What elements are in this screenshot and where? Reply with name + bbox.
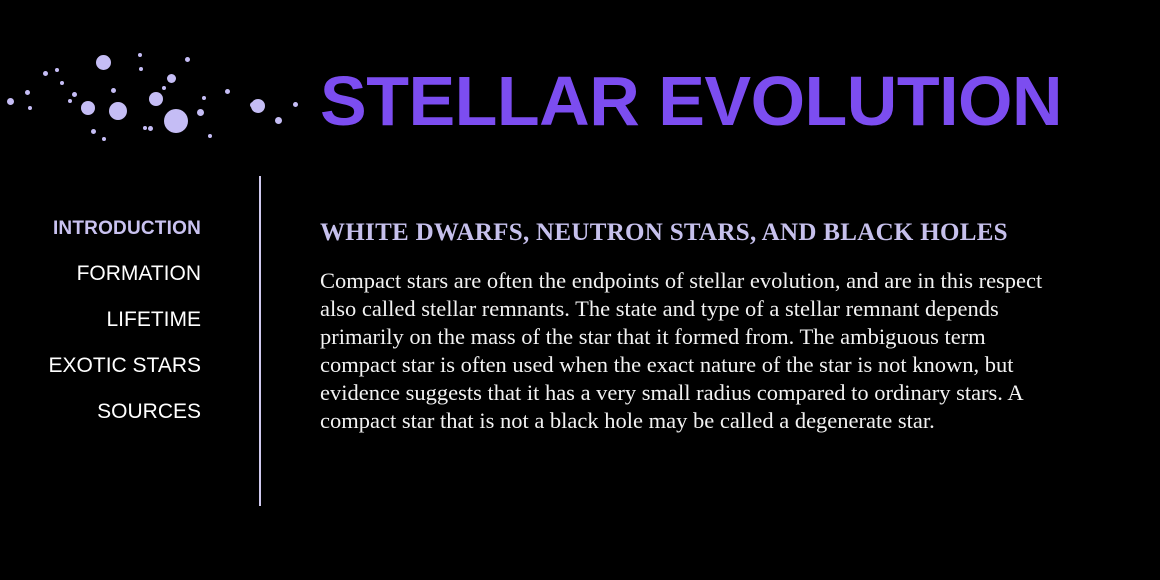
star-dot — [72, 92, 77, 97]
star-dot — [185, 57, 190, 62]
content-heading: WHITE DWARFS, NEUTRON STARS, AND BLACK H… — [320, 219, 1050, 247]
star-dot — [111, 88, 116, 93]
star-dot — [149, 92, 163, 106]
star-dot — [55, 68, 59, 72]
sidebar-item-lifetime[interactable]: LIFETIME — [106, 309, 201, 330]
sidebar-item-introduction[interactable]: INTRODUCTION — [53, 219, 201, 238]
content-panel: WHITE DWARFS, NEUTRON STARS, AND BLACK H… — [320, 219, 1050, 435]
sidebar-item-sources[interactable]: SOURCES — [97, 401, 201, 422]
vertical-divider — [259, 176, 261, 506]
content-body-paragraph: Compact stars are often the endpoints of… — [320, 267, 1050, 435]
star-dot — [293, 102, 298, 107]
star-dot — [81, 101, 95, 115]
star-dot — [7, 98, 14, 105]
star-dot — [25, 90, 30, 95]
star-dot — [225, 89, 230, 94]
star-dot — [138, 53, 142, 57]
star-dot — [102, 137, 106, 141]
sidebar-nav: INTRODUCTION FORMATION LIFETIME EXOTIC S… — [0, 219, 201, 422]
star-field-decoration — [0, 0, 320, 170]
star-dot — [197, 109, 204, 116]
star-dot — [148, 126, 153, 131]
star-dot — [202, 96, 206, 100]
star-dot — [275, 117, 282, 124]
star-dot — [250, 102, 256, 108]
sidebar-item-formation[interactable]: FORMATION — [77, 263, 201, 284]
star-dot — [254, 105, 258, 109]
page-title: STELLAR EVOLUTION — [320, 66, 1062, 136]
star-dot — [162, 86, 166, 90]
star-dot — [96, 55, 111, 70]
star-dot — [143, 126, 147, 130]
slide-canvas: STELLAR EVOLUTION INTRODUCTION FORMATION… — [0, 0, 1160, 580]
star-dot — [164, 109, 188, 133]
star-dot — [251, 99, 265, 113]
star-dot — [91, 129, 96, 134]
star-dot — [139, 67, 143, 71]
star-dot — [208, 134, 212, 138]
star-dot — [68, 99, 72, 103]
star-dot — [28, 106, 32, 110]
star-dot — [60, 81, 64, 85]
star-dot — [167, 74, 176, 83]
star-dot — [109, 102, 127, 120]
sidebar-item-exotic-stars[interactable]: EXOTIC STARS — [49, 355, 201, 376]
star-dot — [43, 71, 48, 76]
